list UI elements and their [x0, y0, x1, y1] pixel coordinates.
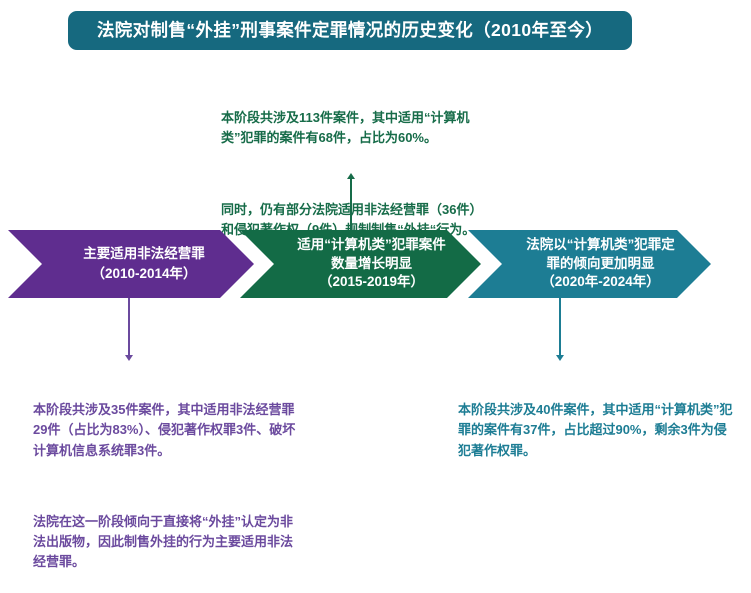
timeline-stage-3[interactable]: 法院以“计算机类”犯罪定 罪的倾向更加明显 （2020年-2024年） — [468, 230, 711, 298]
connector-line-stage-3 — [559, 298, 561, 356]
timeline-stage-3-period: （2020年-2024年） — [541, 273, 660, 292]
note-stage-1: 本阶段共涉及35件案件，其中适用非法经营罪29件（占比为83%）、侵犯著作权罪3… — [33, 360, 303, 593]
connector-arrow-stage-1 — [128, 298, 130, 356]
page-title-banner: 法院对制售“外挂”刑事案件定罪情况的历史变化（2010年至今） — [68, 11, 632, 50]
connector-arrow-stage-3 — [559, 298, 561, 356]
note-stage-1-paragraph-2: 法院在这一阶段倾向于直接将“外挂”认定为非法出版物，因此制售外挂的行为主要适用非… — [33, 512, 303, 572]
note-stage-3-paragraph-1: 本阶段共涉及40件案件，其中适用“计算机类”犯罪的案件有37件，占比超过90%，… — [458, 400, 733, 460]
timeline-stage-1[interactable]: 主要适用非法经营罪 （2010-2014年） — [8, 230, 254, 298]
connector-line-stage-2 — [350, 178, 352, 232]
note-stage-1-paragraph-1: 本阶段共涉及35件案件，其中适用非法经营罪29件（占比为83%）、侵犯著作权罪3… — [33, 400, 303, 460]
timeline-stage-3-heading-line-1: 法院以“计算机类”犯罪定 — [526, 236, 675, 255]
connector-line-stage-1 — [128, 298, 130, 356]
timeline-stage-2-heading-line-1: 适用“计算机类”犯罪案件 — [297, 236, 446, 255]
timeline-stage-2-heading-line-2: 数量增长明显 — [331, 255, 412, 274]
timeline-stage-1-heading-line-1: 主要适用非法经营罪 — [83, 244, 205, 264]
note-stage-3: 本阶段共涉及40件案件，其中适用“计算机类”犯罪的案件有37件，占比超过90%，… — [458, 360, 733, 481]
timeline-chevron-band: 主要适用非法经营罪 （2010-2014年） 适用“计算机类”犯罪案件 数量增长… — [0, 230, 751, 298]
timeline-stage-2[interactable]: 适用“计算机类”犯罪案件 数量增长明显 （2015-2019年） — [240, 230, 481, 298]
timeline-stage-3-heading-line-2: 罪的倾向更加明显 — [547, 255, 655, 274]
note-stage-2-paragraph-1: 本阶段共涉及113件案件，其中适用“计算机类”犯罪的案件有68件，占比为60%。 — [221, 108, 489, 148]
timeline-stage-1-period: （2010-2014年） — [91, 264, 196, 284]
connector-arrow-stage-2 — [350, 178, 352, 232]
arrow-head-up-icon — [347, 173, 355, 179]
timeline-stage-2-period: （2015-2019年） — [319, 273, 424, 292]
page-title: 法院对制售“外挂”刑事案件定罪情况的历史变化（2010年至今） — [97, 22, 603, 40]
